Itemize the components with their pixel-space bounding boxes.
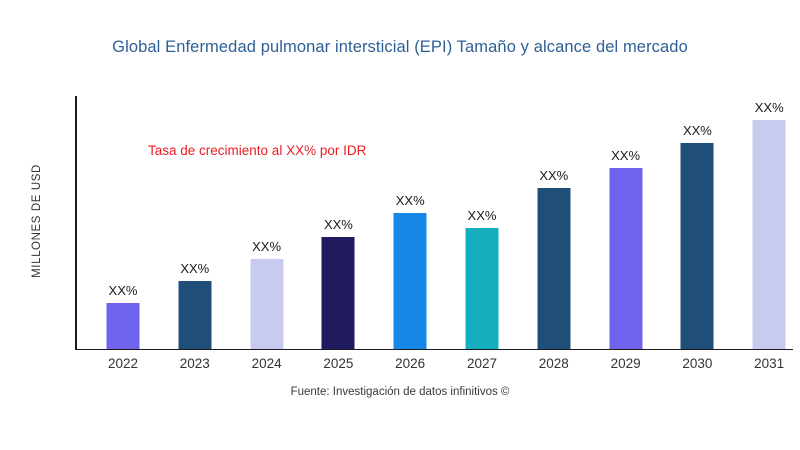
x-tick-2027: 2027: [451, 356, 513, 371]
bar-value-label-2031: XX%: [755, 100, 784, 115]
bar-group-2024: XX%: [236, 95, 298, 349]
bar-2031[interactable]: [753, 120, 786, 349]
bar-group-2031: XX%: [738, 95, 800, 349]
x-tick-2023: 2023: [164, 356, 226, 371]
bar-2023[interactable]: [178, 281, 211, 349]
source-caption: Fuente: Investigación de datos infinitiv…: [0, 386, 800, 398]
bar-2028[interactable]: [537, 188, 570, 349]
bar-value-label-2027: XX%: [468, 208, 497, 223]
x-tick-2022: 2022: [92, 356, 154, 371]
chart-title: Global Enfermedad pulmonar intersticial …: [0, 38, 800, 57]
bar-value-label-2028: XX%: [539, 168, 568, 183]
bar-2022[interactable]: [107, 303, 140, 349]
bar-chart: Global Enfermedad pulmonar intersticial …: [0, 0, 800, 450]
bar-2024[interactable]: [250, 259, 283, 349]
bar-group-2029: XX%: [595, 95, 657, 349]
x-tick-2026: 2026: [379, 356, 441, 371]
y-axis-line: [75, 96, 77, 350]
bar-group-2025: XX%: [307, 95, 369, 349]
x-tick-2028: 2028: [523, 356, 585, 371]
bar-2027[interactable]: [466, 228, 499, 349]
plot-area: XX%XX%XX%XX%XX%XX%XX%XX%XX%XX%: [75, 96, 793, 350]
bar-value-label-2023: XX%: [180, 261, 209, 276]
bar-value-label-2025: XX%: [324, 217, 353, 232]
x-tick-2030: 2030: [666, 356, 728, 371]
y-axis-label: MILLONES DE USD: [31, 101, 43, 341]
bar-2030[interactable]: [681, 143, 714, 349]
x-tick-2025: 2025: [307, 356, 369, 371]
bar-value-label-2030: XX%: [683, 123, 712, 138]
bar-value-label-2029: XX%: [611, 148, 640, 163]
x-tick-2029: 2029: [595, 356, 657, 371]
x-tick-2024: 2024: [236, 356, 298, 371]
bar-group-2030: XX%: [666, 95, 728, 349]
bar-group-2028: XX%: [523, 95, 585, 349]
bar-group-2027: XX%: [451, 95, 513, 349]
bar-2029[interactable]: [609, 168, 642, 349]
bar-2026[interactable]: [394, 213, 427, 349]
bar-2025[interactable]: [322, 237, 355, 349]
bar-value-label-2026: XX%: [396, 193, 425, 208]
bar-group-2022: XX%: [92, 95, 154, 349]
bar-group-2023: XX%: [164, 95, 226, 349]
bar-group-2026: XX%: [379, 95, 441, 349]
bar-value-label-2024: XX%: [252, 239, 281, 254]
bar-value-label-2022: XX%: [109, 283, 138, 298]
x-axis-line: [75, 349, 793, 351]
x-tick-2031: 2031: [738, 356, 800, 371]
